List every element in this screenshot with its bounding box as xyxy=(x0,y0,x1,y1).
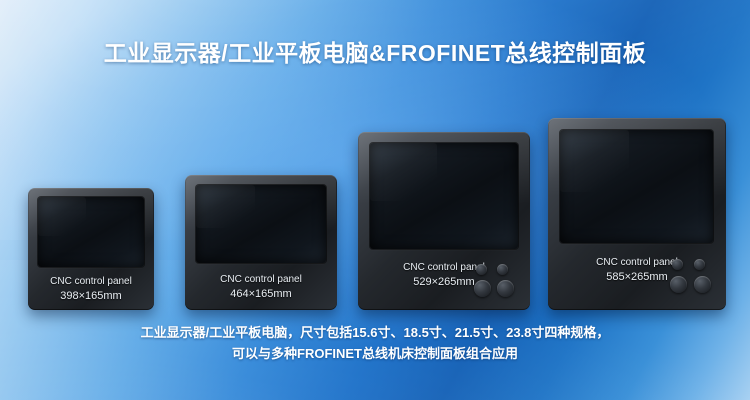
panel-labels: CNC control panel 398×165mm xyxy=(28,274,154,304)
knob-icon-large-left[interactable] xyxy=(474,280,491,297)
product-panel-15-6[interactable]: CNC control panel 398×165mm xyxy=(28,188,154,310)
knob-icon-small-right[interactable] xyxy=(497,264,508,275)
display-screen xyxy=(370,143,518,249)
display-screen xyxy=(560,130,713,243)
knob-icon-small-left[interactable] xyxy=(476,264,487,275)
knob-icon-large-right[interactable] xyxy=(694,276,711,293)
panel-labels: CNC control panel 464×165mm xyxy=(185,272,337,302)
page-title: 工业显示器/工业平板电脑&FROFINET总线控制面板 xyxy=(0,34,750,68)
product-lineup: CNC control panel 398×165mm CNC control … xyxy=(0,95,750,310)
knob-icon-small-left[interactable] xyxy=(672,259,683,270)
size-label: 398×165mm xyxy=(28,289,154,304)
control-knob-group[interactable] xyxy=(475,264,521,304)
knob-icon-large-right[interactable] xyxy=(497,280,514,297)
promo-banner: 工业显示器/工业平板电脑&FROFINET总线控制面板 CNC control … xyxy=(0,0,750,400)
promo-caption: 工业显示器/工业平板电脑，尺寸包括15.6寸、18.5寸、21.5寸、23.8寸… xyxy=(0,322,750,364)
model-label: CNC control panel xyxy=(28,274,154,289)
product-panel-21-5[interactable]: CNC control panel 529×265mm xyxy=(358,132,530,310)
size-label: 464×165mm xyxy=(185,287,337,302)
model-label: CNC control panel xyxy=(185,272,337,287)
caption-line-1: 工业显示器/工业平板电脑，尺寸包括15.6寸、18.5寸、21.5寸、23.8寸… xyxy=(0,322,750,343)
control-knob-group[interactable] xyxy=(671,259,717,301)
knob-icon-small-right[interactable] xyxy=(694,259,705,270)
knob-icon-large-left[interactable] xyxy=(670,276,687,293)
caption-line-2: 可以与多种FROFINET总线机床控制面板组合应用 xyxy=(0,343,750,364)
product-panel-23-8[interactable]: CNC control panel 585×265mm xyxy=(548,118,726,310)
display-screen xyxy=(38,197,144,267)
product-panel-18-5[interactable]: CNC control panel 464×165mm xyxy=(185,175,337,310)
display-screen xyxy=(196,185,326,263)
